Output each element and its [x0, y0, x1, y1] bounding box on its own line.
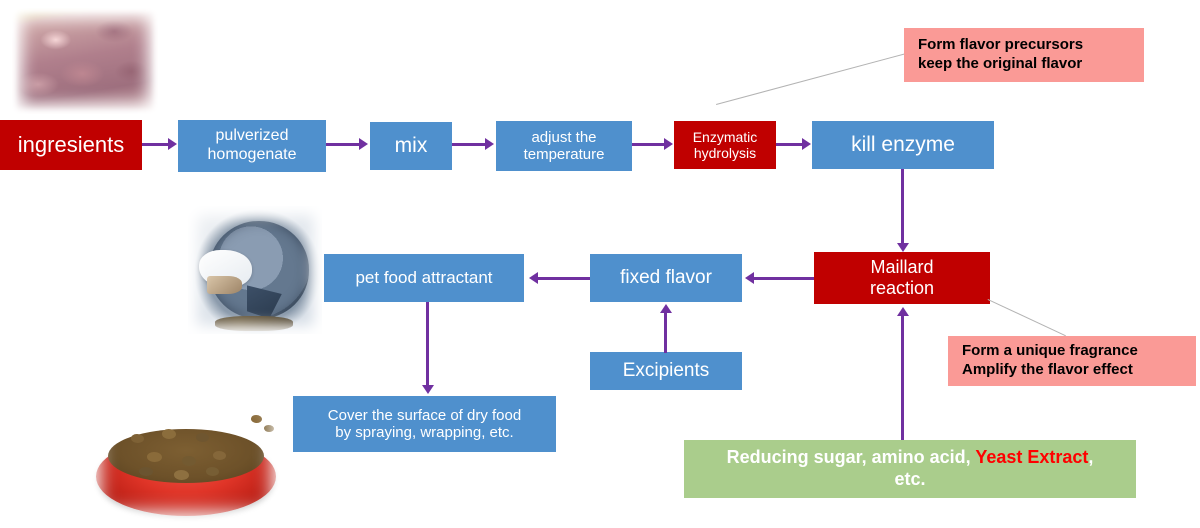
- arrow-enzymatic-to-kill-enzyme: [776, 143, 803, 146]
- process-box-ingredients[interactable]: ingresients: [0, 120, 142, 170]
- arrow-fixed-flavor-to-attractant: [538, 277, 590, 280]
- arrow-mix-to-adjust-temp: [452, 143, 486, 146]
- callout-precursors-line2: keep the original flavor: [918, 55, 1082, 72]
- process-box-ingredients-label: ingresients: [18, 132, 124, 158]
- arrowhead-enzymatic-to-kill-enzyme: [802, 138, 811, 150]
- process-box-adjust-temp-label: adjust the temperature: [524, 129, 605, 164]
- process-box-fixed-flavor[interactable]: fixed flavor: [590, 254, 742, 302]
- callout-fragrance: Form a unique fragrance Amplify the flav…: [948, 336, 1196, 386]
- process-box-fixed-flavor-label: fixed flavor: [620, 267, 712, 289]
- process-box-kill-enzyme-label: kill enzyme: [851, 133, 955, 157]
- arrow-reactants-to-maillard: [901, 316, 904, 440]
- arrowhead-reactants-to-maillard: [897, 307, 909, 316]
- arrow-attractant-to-cover-surface: [426, 302, 429, 386]
- leader-line-fragrance: [988, 299, 1066, 336]
- process-box-excipients[interactable]: Excipients: [590, 352, 742, 390]
- arrow-ingredients-to-pulverize: [142, 143, 169, 146]
- arrowhead-attractant-to-cover-surface: [422, 385, 434, 394]
- arrowhead-fixed-flavor-to-attractant: [529, 272, 538, 284]
- arrowhead-excipients-to-fixed-flavor: [660, 304, 672, 313]
- raw-meat-photo: [12, 8, 158, 114]
- process-box-adjust-temp[interactable]: adjust the temperature: [496, 121, 632, 171]
- callout-fragrance-text: Form a unique fragrance Amplify the flav…: [962, 342, 1138, 380]
- arrow-pulverize-to-mix: [326, 143, 360, 146]
- reactants-text-after: ,: [1088, 447, 1093, 467]
- process-flow-diagram: ingresients pulverized homogenate mix ad…: [0, 0, 1200, 528]
- reactants-text-line2: etc.: [894, 469, 925, 489]
- arrow-excipients-to-fixed-flavor: [664, 313, 667, 353]
- process-box-mix[interactable]: mix: [370, 122, 452, 170]
- process-box-cover-surface-label: Cover the surface of dry food by sprayin…: [328, 407, 521, 442]
- arrow-maillard-to-fixed-flavor: [754, 277, 814, 280]
- callout-precursors: Form flavor precursors keep the original…: [904, 28, 1144, 82]
- arrow-kill-enzyme-to-maillard: [901, 169, 904, 244]
- callout-fragrance-line1: Form a unique fragrance: [962, 342, 1138, 359]
- process-box-excipients-label: Excipients: [623, 360, 710, 382]
- leader-line-precursors: [716, 53, 907, 105]
- reactants-text-before: Reducing sugar, amino acid,: [727, 447, 976, 467]
- process-box-pulverize[interactable]: pulverized homogenate: [178, 120, 326, 172]
- process-box-kill-enzyme[interactable]: kill enzyme: [812, 121, 994, 169]
- bowl-photo-vignette: [88, 388, 284, 524]
- callout-precursors-line1: Form flavor precursors: [918, 36, 1083, 53]
- process-box-pet-food-attractant-label: pet food attractant: [355, 268, 492, 288]
- process-box-enzymatic-hydrolysis-label: Enzymatic hydrolysis: [693, 129, 758, 161]
- process-box-maillard-reaction[interactable]: Maillard reaction: [814, 252, 990, 304]
- reactants-box[interactable]: Reducing sugar, amino acid, Yeast Extrac…: [684, 440, 1136, 498]
- mixer-photo-vignette: [188, 206, 322, 334]
- reactants-text: Reducing sugar, amino acid, Yeast Extrac…: [727, 447, 1094, 490]
- meat-photo-vignette: [12, 8, 158, 114]
- arrowhead-ingredients-to-pulverize: [168, 138, 177, 150]
- callout-precursors-text: Form flavor precursors keep the original…: [918, 36, 1083, 74]
- process-box-pet-food-attractant[interactable]: pet food attractant: [324, 254, 524, 302]
- mixer-photo: [188, 206, 322, 334]
- callout-fragrance-line2: Amplify the flavor effect: [962, 361, 1133, 378]
- process-box-pulverize-label: pulverized homogenate: [208, 127, 297, 164]
- arrow-adjust-temp-to-enzymatic: [632, 143, 665, 146]
- process-box-mix-label: mix: [395, 134, 428, 158]
- arrowhead-mix-to-adjust-temp: [485, 138, 494, 150]
- arrowhead-kill-enzyme-to-maillard: [897, 243, 909, 252]
- process-box-maillard-reaction-label: Maillard reaction: [870, 257, 934, 299]
- arrowhead-pulverize-to-mix: [359, 138, 368, 150]
- arrowhead-adjust-temp-to-enzymatic: [664, 138, 673, 150]
- process-box-enzymatic-hydrolysis[interactable]: Enzymatic hydrolysis: [674, 121, 776, 169]
- arrowhead-maillard-to-fixed-flavor: [745, 272, 754, 284]
- process-box-cover-surface[interactable]: Cover the surface of dry food by sprayin…: [293, 396, 556, 452]
- reactants-highlight: Yeast Extract: [975, 447, 1088, 467]
- pet-food-bowl-photo: [88, 388, 284, 524]
